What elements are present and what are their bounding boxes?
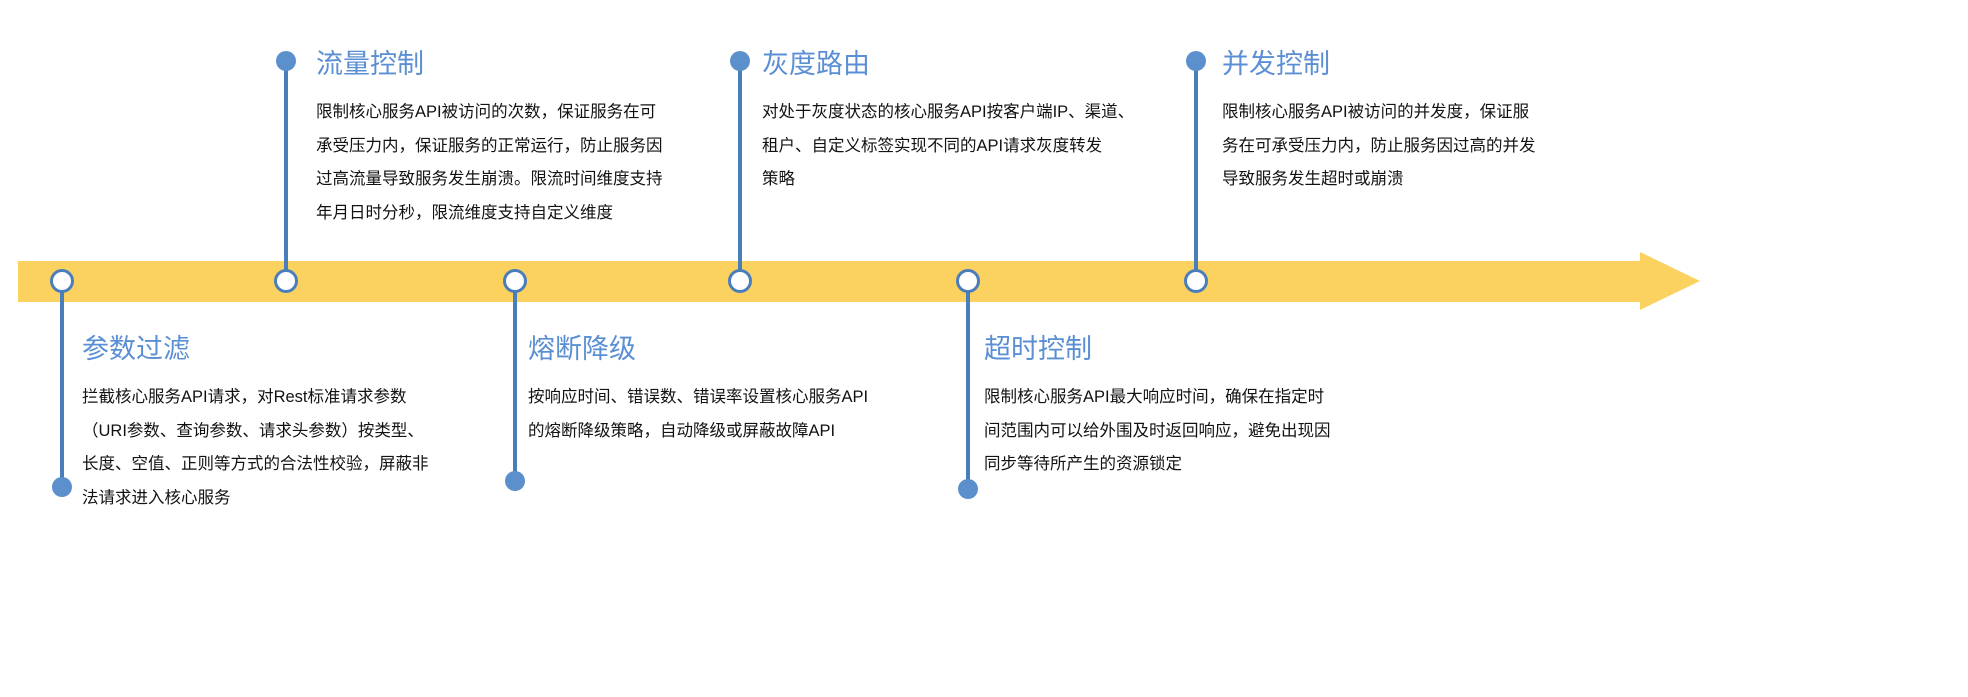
node-timeout-control[interactable] (956, 269, 980, 293)
item-title-param-filter: 参数过滤 (82, 333, 512, 367)
item-body-line: 限制核心服务API被访问的次数，保证服务在可 (316, 96, 716, 130)
item-title-concurrency-control: 并发控制 (1222, 48, 1622, 82)
item-title-gray-routing: 灰度路由 (762, 48, 1182, 82)
connector-flow-control (284, 68, 288, 283)
item-concurrency-control: 并发控制 限制核心服务API被访问的并发度，保证服 务在可承受压力内，防止服务因… (1222, 48, 1622, 197)
item-circuit-breaker: 熔断降级 按响应时间、错误数、错误率设置核心服务API 的熔断降级策略，自动降级… (528, 333, 948, 448)
end-dot-timeout-control (958, 479, 978, 499)
item-body-line: 承受压力内，保证服务的正常运行，防止服务因 (316, 130, 716, 164)
item-body-line: 拦截核心服务API请求，对Rest标准请求参数 (82, 381, 512, 415)
item-gray-routing: 灰度路由 对处于灰度状态的核心服务API按客户端IP、渠道、 租户、自定义标签实… (762, 48, 1182, 197)
item-body-param-filter: 拦截核心服务API请求，对Rest标准请求参数 （URI参数、查询参数、请求头参… (82, 381, 512, 516)
item-body-line: 过高流量导致服务发生崩溃。限流时间维度支持 (316, 163, 716, 197)
item-body-line: 间范围内可以给外围及时返回响应，避免出现因 (984, 415, 1404, 449)
item-body-line: 按响应时间、错误数、错误率设置核心服务API (528, 381, 948, 415)
timeline-arrow-bar (18, 261, 1642, 302)
timeline-diagram: 参数过滤 拦截核心服务API请求，对Rest标准请求参数 （URI参数、查询参数… (0, 0, 1968, 697)
node-param-filter[interactable] (50, 269, 74, 293)
connector-timeout-control (966, 281, 970, 489)
node-gray-routing[interactable] (728, 269, 752, 293)
connector-param-filter (60, 281, 64, 487)
item-body-line: 限制核心服务API被访问的并发度，保证服 (1222, 96, 1622, 130)
item-title-circuit-breaker: 熔断降级 (528, 333, 948, 367)
item-flow-control: 流量控制 限制核心服务API被访问的次数，保证服务在可 承受压力内，保证服务的正… (316, 48, 716, 231)
node-concurrency-control[interactable] (1184, 269, 1208, 293)
item-timeout-control: 超时控制 限制核心服务API最大响应时间，确保在指定时 间范围内可以给外围及时返… (984, 333, 1404, 482)
item-body-line: 对处于灰度状态的核心服务API按客户端IP、渠道、 (762, 96, 1182, 130)
item-body-line: （URI参数、查询参数、请求头参数）按类型、 (82, 415, 512, 449)
item-body-flow-control: 限制核心服务API被访问的次数，保证服务在可 承受压力内，保证服务的正常运行，防… (316, 96, 716, 231)
node-flow-control[interactable] (274, 269, 298, 293)
item-body-line: 同步等待所产生的资源锁定 (984, 448, 1404, 482)
item-body-line: 限制核心服务API最大响应时间，确保在指定时 (984, 381, 1404, 415)
end-dot-concurrency-control (1186, 51, 1206, 71)
end-dot-circuit-breaker (505, 471, 525, 491)
item-body-concurrency-control: 限制核心服务API被访问的并发度，保证服 务在可承受压力内，防止服务因过高的并发… (1222, 96, 1622, 197)
item-title-timeout-control: 超时控制 (984, 333, 1404, 367)
item-body-line: 年月日时分秒，限流维度支持自定义维度 (316, 197, 716, 231)
timeline-arrow-head (1640, 252, 1700, 310)
item-body-gray-routing: 对处于灰度状态的核心服务API按客户端IP、渠道、 租户、自定义标签实现不同的A… (762, 96, 1182, 197)
item-body-line: 法请求进入核心服务 (82, 482, 512, 516)
connector-concurrency-control (1194, 68, 1198, 283)
item-body-timeout-control: 限制核心服务API最大响应时间，确保在指定时 间范围内可以给外围及时返回响应，避… (984, 381, 1404, 482)
end-dot-param-filter (52, 477, 72, 497)
item-param-filter: 参数过滤 拦截核心服务API请求，对Rest标准请求参数 （URI参数、查询参数… (82, 333, 512, 516)
item-body-line: 的熔断降级策略，自动降级或屏蔽故障API (528, 415, 948, 449)
node-circuit-breaker[interactable] (503, 269, 527, 293)
item-body-line: 策略 (762, 163, 1182, 197)
item-body-line: 导致服务发生超时或崩溃 (1222, 163, 1622, 197)
end-dot-gray-routing (730, 51, 750, 71)
item-body-line: 租户、自定义标签实现不同的API请求灰度转发 (762, 130, 1182, 164)
item-body-circuit-breaker: 按响应时间、错误数、错误率设置核心服务API 的熔断降级策略，自动降级或屏蔽故障… (528, 381, 948, 449)
connector-gray-routing (738, 68, 742, 283)
item-body-line: 长度、空值、正则等方式的合法性校验，屏蔽非 (82, 448, 512, 482)
connector-circuit-breaker (513, 281, 517, 481)
end-dot-flow-control (276, 51, 296, 71)
item-title-flow-control: 流量控制 (316, 48, 716, 82)
item-body-line: 务在可承受压力内，防止服务因过高的并发 (1222, 130, 1622, 164)
